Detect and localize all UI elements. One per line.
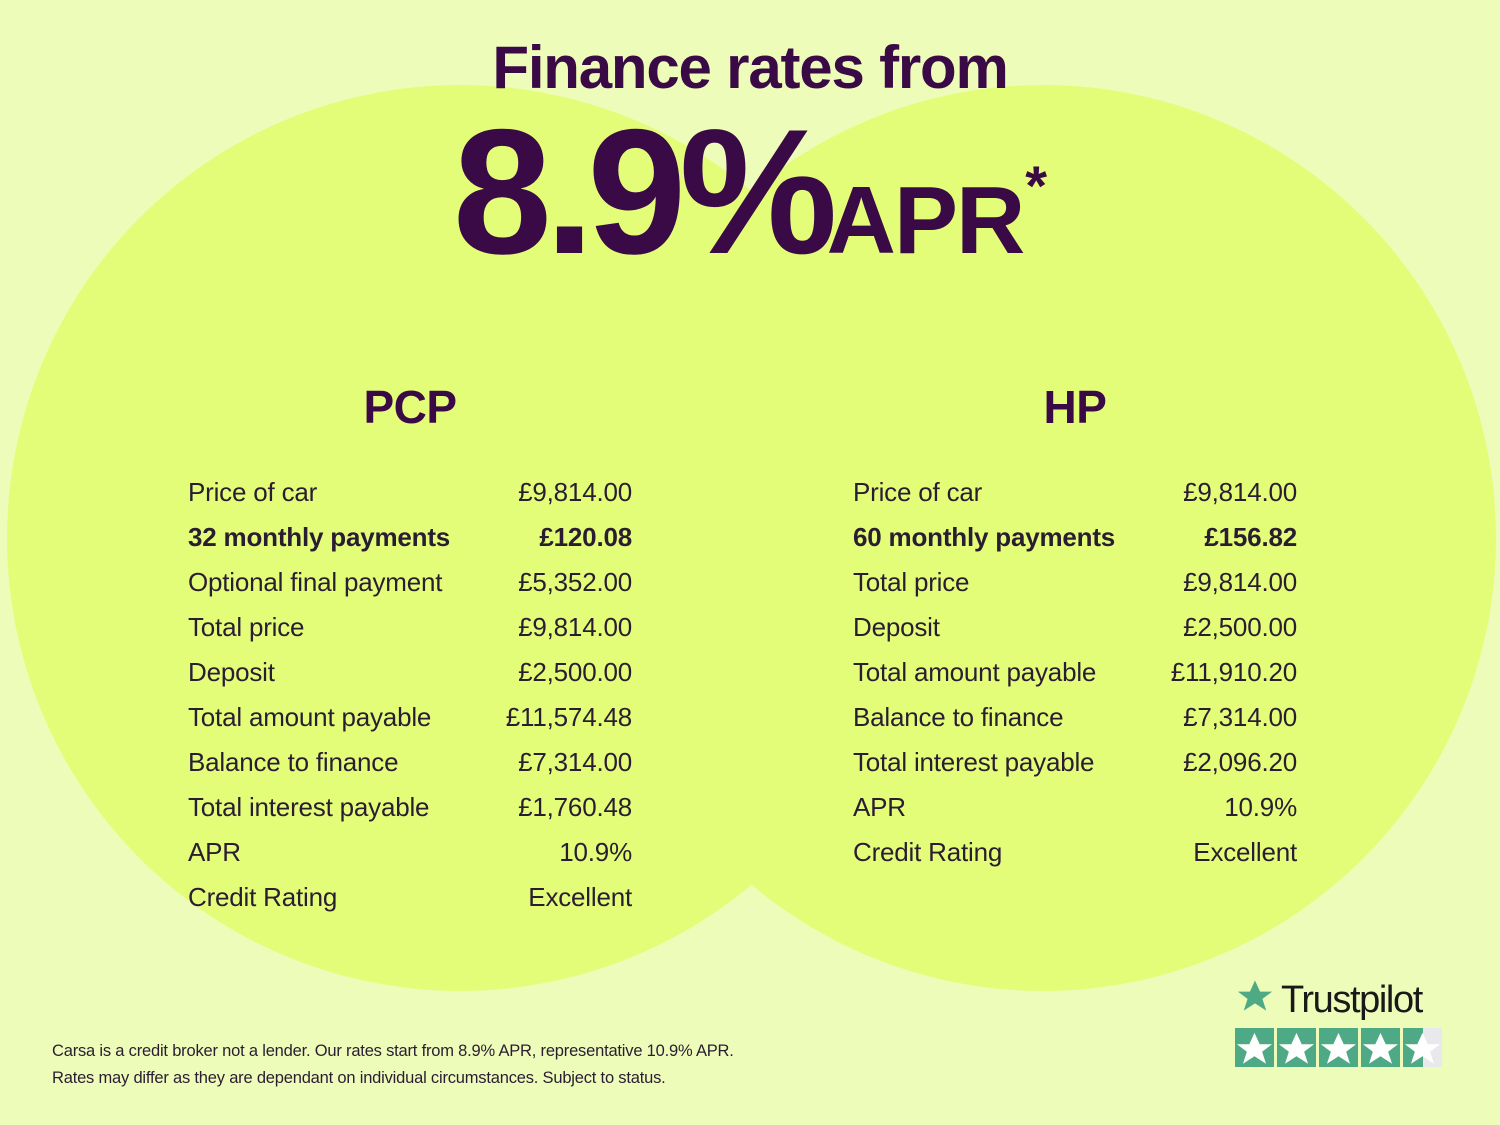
row-label: Balance to finance — [188, 740, 398, 785]
row-value: £1,760.48 — [518, 785, 632, 830]
row-value: £120.08 — [539, 515, 632, 560]
table-row: APR10.9% — [853, 785, 1297, 830]
table-row: Total amount payable£11,910.20 — [853, 650, 1297, 695]
table-row: Total price£9,814.00 — [853, 560, 1297, 605]
finance-plan-comparison: PCP Price of car£9,814.0032 monthly paym… — [0, 380, 1500, 920]
table-row: Optional final payment£5,352.00 — [188, 560, 632, 605]
row-value: £7,314.00 — [1183, 695, 1297, 740]
table-row: Total interest payable£2,096.20 — [853, 740, 1297, 785]
rate-value: 8.9% — [453, 92, 831, 291]
table-row: 60 monthly payments£156.82 — [853, 515, 1297, 560]
disclaimer-line-2: Rates may differ as they are dependant o… — [52, 1065, 734, 1092]
row-label: Total interest payable — [853, 740, 1094, 785]
row-value: Excellent — [528, 875, 632, 920]
table-row: Deposit£2,500.00 — [188, 650, 632, 695]
trustpilot-rating[interactable]: Trustpilot — [1235, 978, 1445, 1067]
row-label: Deposit — [853, 605, 940, 650]
table-row: Balance to finance£7,314.00 — [853, 695, 1297, 740]
row-value: £9,814.00 — [1183, 560, 1297, 605]
disclaimer-line-1: Carsa is a credit broker not a lender. O… — [52, 1038, 734, 1065]
row-label: Total amount payable — [853, 650, 1096, 695]
header: Finance rates from 8.9%APR* — [0, 0, 1500, 281]
rate-asterisk: * — [1025, 154, 1047, 217]
row-label: Total price — [188, 605, 304, 650]
table-row: Credit RatingExcellent — [853, 830, 1297, 875]
row-value: Excellent — [1193, 830, 1297, 875]
table-row: Balance to finance£7,314.00 — [188, 740, 632, 785]
star-icon — [1277, 1028, 1316, 1067]
row-label: Total amount payable — [188, 695, 431, 740]
table-row: Price of car£9,814.00 — [188, 470, 632, 515]
table-row: 32 monthly payments£120.08 — [188, 515, 632, 560]
row-value: £9,814.00 — [518, 605, 632, 650]
plan-rows-pcp: Price of car£9,814.0032 monthly payments… — [130, 470, 690, 920]
row-value: £5,352.00 — [518, 560, 632, 605]
row-label: Credit Rating — [188, 875, 337, 920]
disclaimer: Carsa is a credit broker not a lender. O… — [52, 1038, 734, 1092]
star-icon — [1319, 1028, 1358, 1067]
table-row: Total interest payable£1,760.48 — [188, 785, 632, 830]
table-row: APR10.9% — [188, 830, 632, 875]
table-row: Credit RatingExcellent — [188, 875, 632, 920]
row-value: £2,096.20 — [1183, 740, 1297, 785]
trustpilot-star-rating — [1235, 1028, 1445, 1067]
row-label: Price of car — [853, 470, 982, 515]
plan-column-hp: HP Price of car£9,814.0060 monthly payme… — [795, 380, 1355, 920]
trustpilot-star-icon — [1235, 978, 1275, 1021]
row-label: Optional final payment — [188, 560, 442, 605]
rate-unit: APR — [827, 167, 1024, 274]
row-label: 60 monthly payments — [853, 515, 1115, 560]
table-row: Price of car£9,814.00 — [853, 470, 1297, 515]
row-value: 10.9% — [1224, 785, 1297, 830]
row-label: Total price — [853, 560, 969, 605]
star-icon — [1235, 1028, 1274, 1067]
row-value: £156.82 — [1204, 515, 1297, 560]
promo-card: Finance rates from 8.9%APR* PCP Price of… — [0, 0, 1500, 1125]
row-label: Price of car — [188, 470, 317, 515]
table-row: Total amount payable£11,574.48 — [188, 695, 632, 740]
row-value: £11,574.48 — [506, 695, 632, 740]
row-value: £2,500.00 — [518, 650, 632, 695]
row-value: £11,910.20 — [1171, 650, 1297, 695]
trustpilot-wordmark: Trustpilot — [1281, 981, 1422, 1019]
rate-headline: 8.9%APR* — [0, 103, 1500, 281]
row-value: £2,500.00 — [1183, 605, 1297, 650]
row-label: APR — [188, 830, 241, 875]
row-label: Deposit — [188, 650, 275, 695]
plan-rows-hp: Price of car£9,814.0060 monthly payments… — [795, 470, 1355, 875]
star-icon — [1361, 1028, 1400, 1067]
row-value: £7,314.00 — [518, 740, 632, 785]
row-label: 32 monthly payments — [188, 515, 450, 560]
row-value: £9,814.00 — [1183, 470, 1297, 515]
plan-title-pcp: PCP — [130, 380, 690, 434]
star-icon — [1403, 1028, 1442, 1067]
row-value: 10.9% — [559, 830, 632, 875]
plan-title-hp: HP — [795, 380, 1355, 434]
trustpilot-logo: Trustpilot — [1235, 978, 1445, 1021]
row-label: APR — [853, 785, 906, 830]
row-label: Credit Rating — [853, 830, 1002, 875]
table-row: Deposit£2,500.00 — [853, 605, 1297, 650]
table-row: Total price£9,814.00 — [188, 605, 632, 650]
row-value: £9,814.00 — [518, 470, 632, 515]
plan-column-pcp: PCP Price of car£9,814.0032 monthly paym… — [130, 380, 690, 920]
row-label: Total interest payable — [188, 785, 429, 830]
row-label: Balance to finance — [853, 695, 1063, 740]
